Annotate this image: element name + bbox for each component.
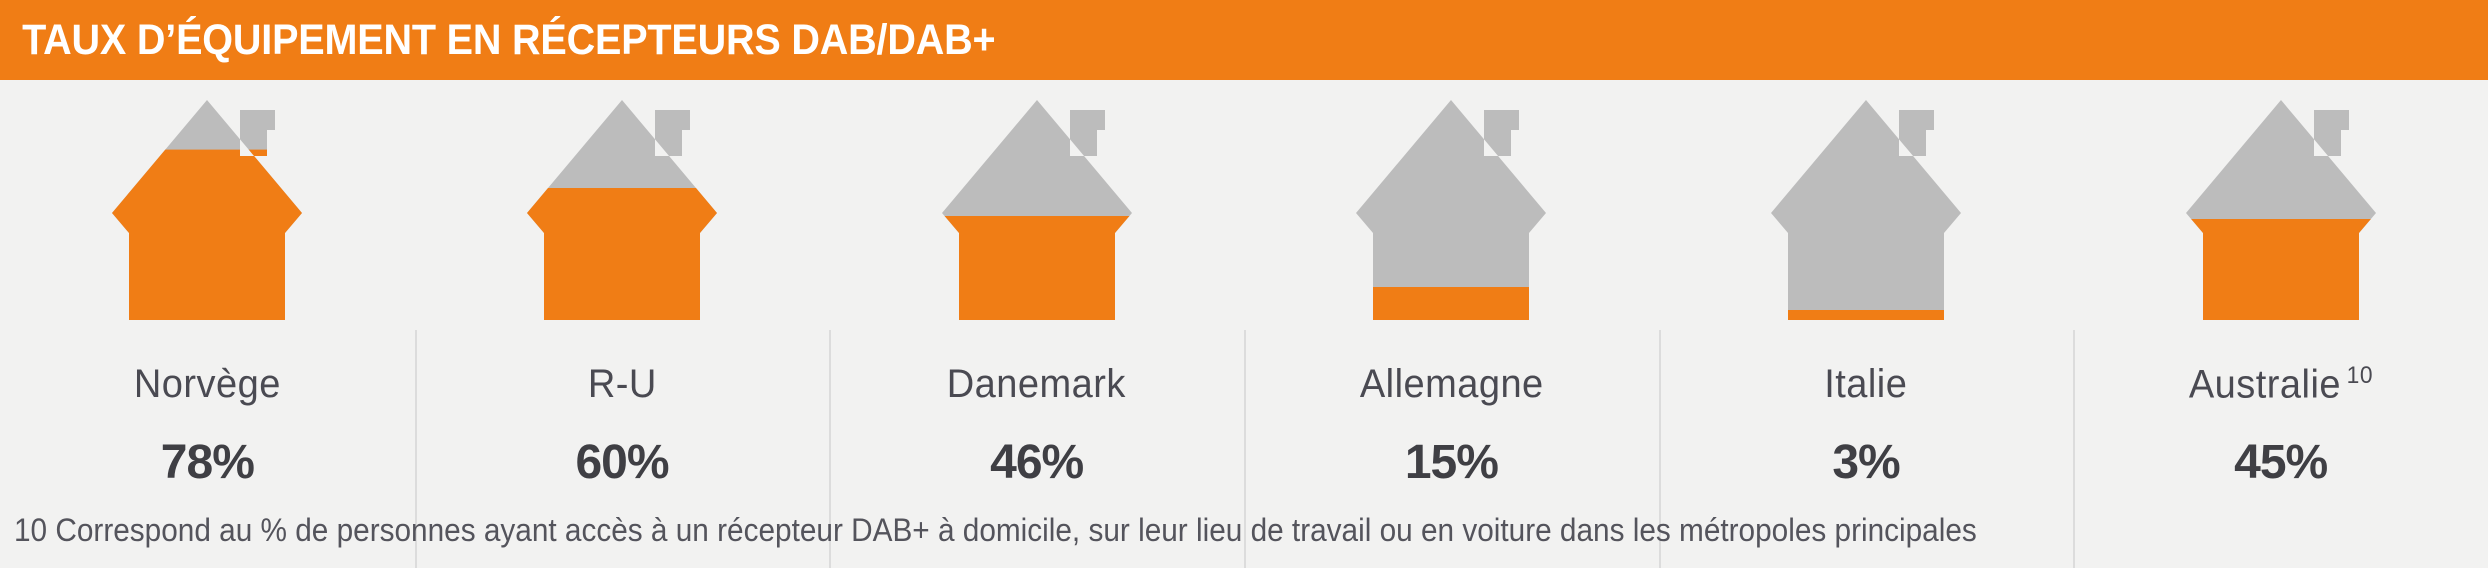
- chart-column-norvege: Norvège 78%: [0, 80, 415, 490]
- country-label: Norvège: [134, 362, 281, 407]
- chart-column-allemagne: Allemagne 15%: [1244, 80, 1659, 490]
- country-label-text: Norvège: [134, 362, 281, 406]
- house-pictogram-danemark: [927, 88, 1147, 338]
- country-label-text: Italie: [1824, 362, 1907, 406]
- percentage-value: 45%: [2234, 435, 2327, 490]
- house-icon: [1341, 88, 1561, 338]
- percentage-value: 46%: [990, 435, 1083, 490]
- percentage-value: 78%: [161, 435, 254, 490]
- percentage-value: 60%: [575, 435, 668, 490]
- house-icon: [97, 88, 317, 338]
- country-label: R-U: [588, 362, 657, 407]
- title-bar: TAUX D’ÉQUIPEMENT EN RÉCEPTEURS DAB/DAB+: [0, 0, 2488, 80]
- chart-column-italie: Italie 3%: [1659, 80, 2074, 490]
- chart-column-australie: Australie10 45%: [2073, 80, 2488, 490]
- chart-column-r-u: R-U 60%: [415, 80, 830, 490]
- house-icon: [2171, 88, 2391, 338]
- page-title: TAUX D’ÉQUIPEMENT EN RÉCEPTEURS DAB/DAB+: [0, 16, 995, 65]
- chart-area: Norvège 78% R-U 60%: [0, 80, 2488, 490]
- country-label-text: R-U: [588, 362, 657, 406]
- chart-column-danemark: Danemark 46%: [829, 80, 1244, 490]
- country-label: Australie10: [2189, 362, 2373, 407]
- country-label: Danemark: [947, 362, 1126, 407]
- country-label: Italie: [1824, 362, 1907, 407]
- country-label: Allemagne: [1359, 362, 1543, 407]
- house-pictogram-r-u: [512, 88, 732, 338]
- house-pictogram-allemagne: [1341, 88, 1561, 338]
- percentage-value: 3%: [1832, 435, 1899, 490]
- footnote-marker: 10: [2346, 362, 2372, 389]
- percentage-value: 15%: [1405, 435, 1498, 490]
- dab-equipment-infographic: TAUX D’ÉQUIPEMENT EN RÉCEPTEURS DAB/DAB+: [0, 0, 2488, 568]
- house-icon: [1756, 88, 1976, 338]
- country-label-text: Allemagne: [1359, 362, 1543, 406]
- country-label-text: Danemark: [947, 362, 1126, 406]
- footnote-text: 10 Correspond au % de personnes ayant ac…: [14, 512, 1977, 549]
- house-pictogram-australie: [2171, 88, 2391, 338]
- house-icon: [512, 88, 732, 338]
- country-label-text: Australie: [2189, 362, 2341, 406]
- house-pictogram-norvege: [97, 88, 317, 338]
- house-icon: [927, 88, 1147, 338]
- house-pictogram-italie: [1756, 88, 1976, 338]
